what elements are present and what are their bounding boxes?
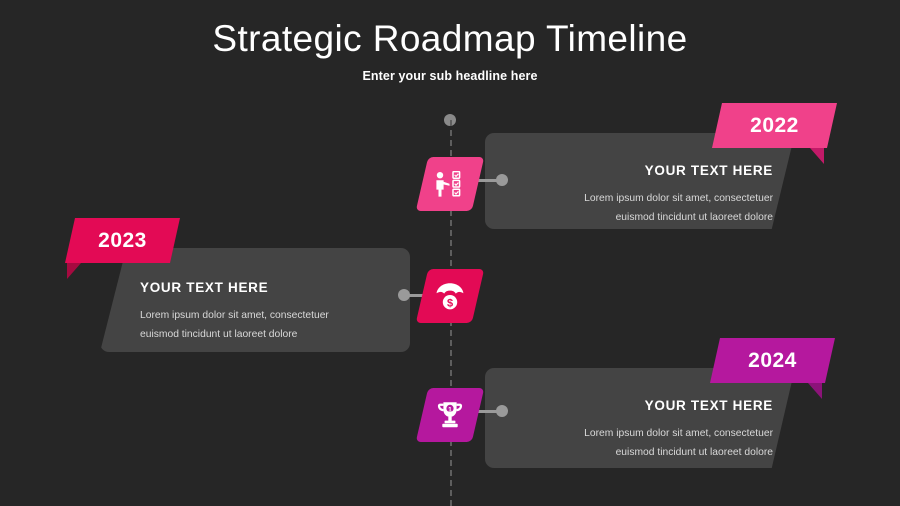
year-tag-2023[interactable]: 2023 [65, 218, 180, 263]
connector-2024 [478, 405, 508, 417]
trophy-icon: 1 [435, 400, 465, 430]
milestone-body-line2-2023: euismod tincidunt ut laoreet dolore [140, 325, 400, 344]
milestone-body-2023: Lorem ipsum dolor sit amet, consectetuer… [140, 306, 400, 344]
year-tag-label-2022: 2022 [750, 114, 799, 138]
milestone-heading-2024: YOUR TEXT HERE [505, 398, 773, 413]
milestone-heading-2023: YOUR TEXT HERE [140, 280, 400, 295]
year-tag-label-2023: 2023 [98, 229, 147, 253]
year-tag-2022[interactable]: 2022 [712, 103, 837, 148]
year-tag-label-2024: 2024 [748, 349, 797, 373]
milestone-content-2023: YOUR TEXT HERE Lorem ipsum dolor sit ame… [140, 280, 400, 344]
page-title: Strategic Roadmap Timeline [0, 16, 900, 61]
milestone-body-2022: Lorem ipsum dolor sit amet, consectetuer… [505, 189, 773, 227]
milestone-body-line2-2022: euismod tincidunt ut laoreet dolore [505, 208, 773, 227]
milestone-heading-2022: YOUR TEXT HERE [505, 163, 773, 178]
svg-text:1: 1 [448, 407, 452, 414]
page-subtitle: Enter your sub headline here [0, 69, 900, 83]
year-tag-fold-2023 [67, 263, 81, 279]
milestone-content-2022: YOUR TEXT HERE Lorem ipsum dolor sit ame… [505, 163, 773, 227]
milestone-badge-2024[interactable]: 1 [416, 388, 484, 442]
milestone-body-line1-2023: Lorem ipsum dolor sit amet, consectetuer [140, 306, 400, 325]
milestone-badge-2023[interactable]: $ [416, 269, 484, 323]
presenter-checklist-icon [433, 171, 467, 197]
year-tag-2024[interactable]: 2024 [710, 338, 835, 383]
milestone-body-line1-2024: Lorem ipsum dolor sit amet, consectetuer [505, 424, 773, 443]
milestone-body-line2-2024: euismod tincidunt ut laoreet dolore [505, 443, 773, 462]
svg-text:$: $ [447, 297, 453, 309]
year-tag-fold-2022 [810, 148, 824, 164]
slide-header: Strategic Roadmap Timeline Enter your su… [0, 16, 900, 83]
milestone-body-2024: Lorem ipsum dolor sit amet, consectetuer… [505, 424, 773, 462]
roadmap-slide: Strategic Roadmap Timeline Enter your su… [0, 0, 900, 506]
connector-2022 [478, 174, 508, 186]
milestone-body-line1-2022: Lorem ipsum dolor sit amet, consectetuer [505, 189, 773, 208]
milestone-badge-2022[interactable] [416, 157, 484, 211]
year-tag-fold-2024 [808, 383, 822, 399]
umbrella-dollar-icon: $ [436, 281, 464, 311]
milestone-content-2024: YOUR TEXT HERE Lorem ipsum dolor sit ame… [505, 398, 773, 462]
